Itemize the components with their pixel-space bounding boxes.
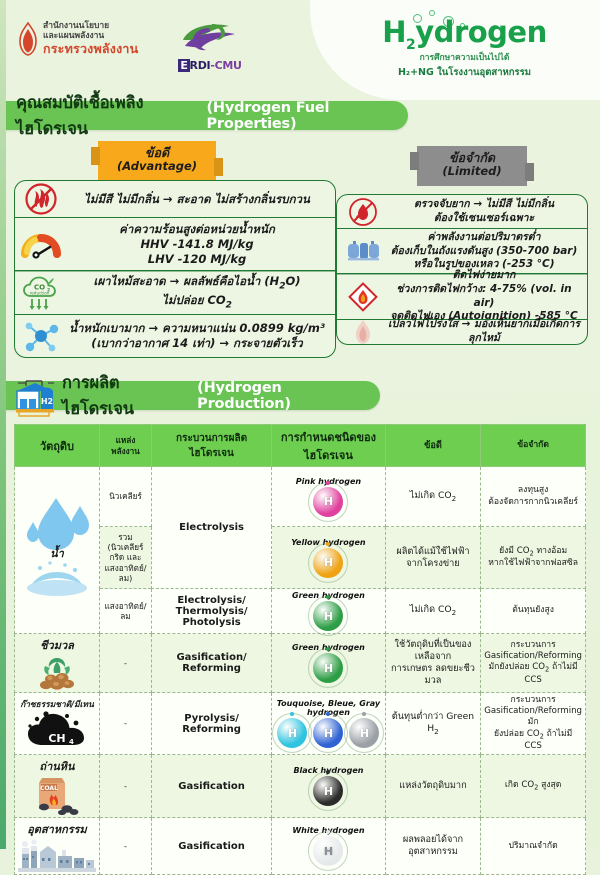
table-header-row: วัตถุดิบ แหล่งพลังงาน กระบวนการผลิต ไฮโด… <box>15 425 586 467</box>
column-header-raw-material: วัตถุดิบ <box>15 425 100 467</box>
erdi-letters-cmu: -CMU <box>210 59 241 72</box>
atom-electron <box>326 481 330 485</box>
table-row: รวม (นิวเคลียร์กริด และแสงอาทิตย์/ลม) Ye… <box>15 527 586 589</box>
advantage-item-3: CO 2 reduction เผาไหม้สะอาด → ผลลัพธ์คือ… <box>14 270 336 315</box>
hydrogen-atom-icon: H <box>313 653 343 683</box>
svg-text:reduction: reduction <box>30 290 50 295</box>
infographic-page: สำนักงานนโยบาย และแผนพลังงาน กระทรวงพลัง… <box>0 0 600 849</box>
column-header-hydrogen-type-l1: การกำหนดชนิดของ <box>275 428 381 446</box>
methane-cloud-icon: CH 4 <box>24 711 90 751</box>
atom-electron <box>326 712 330 716</box>
cell-pro: ผลิตได้แม้ใช้ไฟฟ้าจากโครงข่าย <box>385 527 481 589</box>
hydrogen-atoms: H <box>275 653 381 683</box>
raw-material-label: น้ำ <box>18 544 96 562</box>
cell-hydrogen-type: Yellow hydrogen H <box>272 527 385 589</box>
raw-material-water: น้ำ <box>18 492 96 608</box>
raw-material-6: อุตสาหกรรม <box>18 820 96 872</box>
hydrogen-project-logo: H2ydrogen การศึกษาความเป็นไปได้ H₂+NG ใน… <box>357 14 572 80</box>
hydrogen-atom-icon: H <box>313 487 343 517</box>
cell-raw-material: ถ่านหิน COAL <box>15 755 100 818</box>
cell-energy-source: นิวเคลียร์ <box>100 467 152 527</box>
raw-material-label: ถ่านหิน <box>39 757 74 775</box>
cell-hydrogen-type: Green hydrogen H <box>272 589 385 634</box>
column-header-process-l1: กระบวนการผลิต <box>155 431 268 446</box>
cell-raw-material: อุตสาหกรรม <box>15 818 100 875</box>
cell-energy-source: รวม (นิวเคลียร์กริด และแสงอาทิตย์/ลม) <box>100 527 152 589</box>
column-header-process-l2: ไฮโดรเจน <box>155 446 268 461</box>
limit-item-4-text: เปลวไฟโปร่งใส → มองเห็นยากเมื่อเกิดการลุ… <box>385 318 583 345</box>
cell-hydrogen-type: Green hydrogen H <box>272 634 385 693</box>
cell-energy-source: - <box>100 634 152 693</box>
hydrogen-atom-icon: H <box>313 836 343 866</box>
hydrogen-atom-icon: H <box>313 601 343 631</box>
cell-con: เกิด CO2 สูงสุด <box>481 755 586 818</box>
limit-item-3: ติดไฟง่ายมากช่วงการติดไฟกว้าง: 4-75% (vo… <box>336 273 588 320</box>
limits-list: ตรวจจับยาก → ไม่มีสี ไม่มีกลิ่นต้องใช้เซ… <box>336 196 588 345</box>
erdi-letter-e: E <box>178 59 189 72</box>
atom-electron <box>290 712 294 716</box>
svg-text:4: 4 <box>69 738 74 746</box>
no-smell-icon <box>19 182 63 216</box>
ministry-flame-icon <box>18 22 38 56</box>
table-row: ชีวมวล -Gasification/ <box>15 634 586 693</box>
erdi-wordmark: ERDI-CMU <box>175 59 245 72</box>
no-flame-detect-icon <box>341 197 385 227</box>
table-row: แสงอาทิตย์/ลมElectrolysis/Thermolysis/ P… <box>15 589 586 634</box>
cell-raw-material: ก๊าซธรรมชาติ/มีเทน CH 4 <box>15 693 100 755</box>
advantage-item-1: ไม่มีสี ไม่มีกลิ่น → สะอาด ไม่สร้างกลิ่น… <box>14 180 336 218</box>
atom-electron <box>326 595 330 599</box>
table-row: ถ่านหิน COAL -Gasification Black hydroge… <box>15 755 586 818</box>
svg-text:COAL: COAL <box>40 785 58 792</box>
column-header-raw-material-l1: วัตถุดิบ <box>18 437 96 455</box>
co2-reduction-icon: CO 2 reduction <box>19 274 63 312</box>
raw-material-4: ก๊าซธรรมชาติ/มีเทน CH 4 <box>18 697 96 751</box>
cell-pro: แหล่งวัตถุดิบมาก <box>385 755 481 818</box>
advantages-list: ไม่มีสี ไม่มีกลิ่น → สะอาด ไม่สร้างกลิ่น… <box>14 182 336 358</box>
production-title-th: การผลิตไฮโดรเจน <box>62 370 191 422</box>
limit-item-1: ตรวจจับยาก → ไม่มีสี ไม่มีกลิ่นต้องใช้เซ… <box>336 194 588 229</box>
hydrogen-letter-h: H <box>382 15 406 49</box>
raw-material-label: ก๊าซธรรมชาติ/มีเทน <box>20 697 94 711</box>
cell-con: ลงทุนสูงต้องจัดการกากนิวเคลียร์ <box>481 467 586 527</box>
cell-process: Electrolysis <box>151 467 271 589</box>
limit-item-3-text: ติดไฟง่ายมากช่วงการติดไฟกว้าง: 4-75% (vo… <box>385 269 583 324</box>
limit-item-4: เปลวไฟโปร่งใส → มองเห็นยากเมื่อเกิดการลุ… <box>336 319 588 345</box>
cell-process: Pyrolysis/Reforming <box>151 693 271 755</box>
cell-energy-source: แสงอาทิตย์/ลม <box>100 589 152 634</box>
raw-material-label: ชีวมวล <box>40 636 74 654</box>
pressure-tank-icon <box>341 236 385 266</box>
table-row: ก๊าซธรรมชาติ/มีเทน CH 4 -Pyrolysis/Refor… <box>15 693 586 755</box>
cell-pro: ต้นทุนต่ำกว่า Green H2 <box>385 693 481 755</box>
svg-text:CH: CH <box>48 732 65 745</box>
hydrogen-atoms: H <box>275 836 381 866</box>
erdi-cmu-logo: ERDI-CMU <box>175 20 245 72</box>
ministry-of-energy-logo: สำนักงานนโยบาย และแผนพลังงาน กระทรวงพลัง… <box>18 22 138 56</box>
cell-con: ยังมี CO2 ทางอ้อมหากใช้ไฟฟ้าจากฟอสซิล <box>481 527 586 589</box>
hydrogen-production-table: วัตถุดิบ แหล่งพลังงาน กระบวนการผลิต ไฮโด… <box>14 424 586 875</box>
column-header-con-l1: ข้อจำกัด <box>484 440 582 451</box>
properties-title-th: คุณสมบัติเชื้อเพลิงไฮโดรเจน <box>16 90 200 142</box>
cell-energy-source: - <box>100 818 152 875</box>
svg-text:H2: H2 <box>41 397 53 406</box>
cell-hydrogen-type: Pink hydrogen H <box>272 467 385 527</box>
pale-flame-icon <box>341 319 385 345</box>
advantage-label-pill: ข้อดี (Advantage) <box>98 141 216 181</box>
hydrogen-subscript-2: 2 <box>406 37 415 53</box>
advantage-item-1-text: ไม่มีสี ไม่มีกลิ่น → สะอาด ไม่สร้างกลิ่น… <box>63 192 331 207</box>
atom-electron <box>326 830 330 834</box>
hydrogen-atoms: H H H <box>275 718 381 748</box>
molecule-icon <box>19 317 63 355</box>
column-header-process: กระบวนการผลิต ไฮโดรเจน <box>151 425 271 467</box>
hydrogen-word-rest: ydrogen <box>415 15 546 49</box>
cell-hydrogen-type: White hydrogen H <box>272 818 385 875</box>
column-header-hydrogen-type-l2: ไฮโดรเจน <box>275 446 381 464</box>
cell-process: Gasification <box>151 818 271 875</box>
advantage-item-3-text: เผาไหม้สะอาด → ผลลัพธ์คือไอน้ำ (H2O)ไม่ป… <box>63 274 331 312</box>
column-header-pro: ข้อดี <box>385 425 481 467</box>
erdi-letters-rdi: RDI <box>190 59 211 72</box>
hydrogen-atom-icon: H <box>313 548 343 578</box>
limited-label-en: (Limited) <box>435 165 509 178</box>
properties-section-banner: คุณสมบัติเชื้อเพลิงไฮโดรเจน (Hydrogen Fu… <box>0 101 408 130</box>
hydrogen-atoms: H <box>275 487 381 517</box>
cell-hydrogen-type: Black hydrogen H <box>272 755 385 818</box>
cell-process: Gasification <box>151 755 271 818</box>
column-header-energy-source: แหล่งพลังงาน <box>100 425 152 467</box>
hydrogen-atoms: H <box>275 548 381 578</box>
column-header-hydrogen-type: การกำหนดชนิดของ ไฮโดรเจน <box>272 425 385 467</box>
hydrogen-tagline-2: H₂+NG ในโรงงานอุตสาหกรรม <box>357 65 572 80</box>
cell-energy-source: - <box>100 755 152 818</box>
biomass-icon <box>37 654 77 690</box>
cell-energy-source: - <box>100 693 152 755</box>
advantage-label-th: ข้อดี <box>116 146 198 160</box>
cell-raw-material: น้ำ <box>15 467 100 634</box>
raw-material-label: อุตสาหกรรม <box>27 820 87 838</box>
hydrogen-atoms: H <box>275 776 381 806</box>
cell-con: กระบวนการGasification/Reformingมักยังปล่… <box>481 634 586 693</box>
raw-material-3: ชีวมวล <box>18 636 96 690</box>
raw-material-5: ถ่านหิน COAL <box>18 757 96 815</box>
page-header: สำนักงานนโยบาย และแผนพลังงาน กระทรวงพลัง… <box>0 0 600 90</box>
atom-electron <box>326 542 330 546</box>
cell-con: กระบวนการGasification/Reforming มักยังปล… <box>481 693 586 755</box>
cell-con: ต้นทุนยังสูง <box>481 589 586 634</box>
atom-electron <box>326 647 330 651</box>
cell-pro: ใช้วัตถุดิบที่เป็นของเหลือจากการเกษตร ลด… <box>385 634 481 693</box>
cell-raw-material: ชีวมวล <box>15 634 100 693</box>
hydrogen-atom-icon: H <box>313 776 343 806</box>
column-header-energy-source-l1: แหล่งพลังงาน <box>103 435 148 456</box>
table-row: อุตสาหกรรม <box>15 818 586 875</box>
hydrogen-tagline-1: การศึกษาความเป็นไปได้ <box>357 50 572 64</box>
cell-pro: ไม่เกิด CO2 <box>385 589 481 634</box>
flammable-hazard-icon <box>341 281 385 313</box>
hydrogen-atom-icon: H <box>349 718 379 748</box>
gauge-icon <box>19 228 63 260</box>
cell-pro: ไม่เกิด CO2 <box>385 467 481 527</box>
cell-pro: ผลพลอยได้จากอุตสาหกรรม <box>385 818 481 875</box>
factory-icon <box>18 838 96 872</box>
hydrogen-atom-icon: H <box>277 718 307 748</box>
advantage-item-2: ค่าความร้อนสูงต่อหน่วยน้ำหนักHHV -141.8 … <box>14 217 336 272</box>
atom-electron <box>326 770 330 774</box>
production-title-en: (Hydrogen Production) <box>197 380 380 412</box>
ministry-text: สำนักงานนโยบาย และแผนพลังงาน กระทรวงพลัง… <box>43 22 138 55</box>
table-header: วัตถุดิบ แหล่งพลังงาน กระบวนการผลิต ไฮโด… <box>15 425 586 467</box>
hydrogen-atom-icon: H <box>313 718 343 748</box>
hydrogen-atoms: H <box>275 601 381 631</box>
limit-item-2-text: ค่าพลังงานต่อปริมาตรต่ำต้องเก็บในถังแรงด… <box>385 231 583 272</box>
electrolyzer-plant-icon: H2 <box>10 371 62 423</box>
limit-item-1-text: ตรวจจับยาก → ไม่มีสี ไม่มีกลิ่นต้องใช้เซ… <box>385 198 583 225</box>
erdi-swirl-icon <box>179 39 241 58</box>
cell-con: ปริมาณจำกัด <box>481 818 586 875</box>
limited-label-pill: ข้อจำกัด (Limited) <box>417 146 527 186</box>
advantage-item-4: น้ำหนักเบามาก → ความหนาแน่น 0.0899 kg/m³… <box>14 314 336 358</box>
properties-title-en: (Hydrogen Fuel Properties) <box>206 100 408 132</box>
limited-label-th: ข้อจำกัด <box>435 151 509 165</box>
ministry-line-3: กระทรวงพลังงาน <box>43 42 138 56</box>
atom-electron <box>362 712 366 716</box>
advantage-label-en: (Advantage) <box>116 160 198 173</box>
table-body: น้ำ นิวเคลียร์Electrolysis Pink hydrogen… <box>15 467 586 875</box>
column-header-con: ข้อจำกัด <box>481 425 586 467</box>
column-header-pro-l1: ข้อดี <box>389 440 478 452</box>
coal-icon: COAL <box>34 775 80 815</box>
hydrogen-wordmark: H2ydrogen <box>357 18 572 52</box>
cell-process: Gasification/Reforming <box>151 634 271 693</box>
cell-process: Electrolysis/Thermolysis/ Photolysis <box>151 589 271 634</box>
advantage-item-4-text: น้ำหนักเบามาก → ความหนาแน่น 0.0899 kg/m³… <box>63 321 331 351</box>
limit-item-2: ค่าพลังงานต่อปริมาตรต่ำต้องเก็บในถังแรงด… <box>336 228 588 275</box>
advantage-item-2-text: ค่าความร้อนสูงต่อหน่วยน้ำหนักHHV -141.8 … <box>63 222 331 267</box>
cell-hydrogen-type: Touquoise, Bleue, Gray hydrogen H H <box>272 693 385 755</box>
table-row: น้ำ นิวเคลียร์Electrolysis Pink hydrogen… <box>15 467 586 527</box>
